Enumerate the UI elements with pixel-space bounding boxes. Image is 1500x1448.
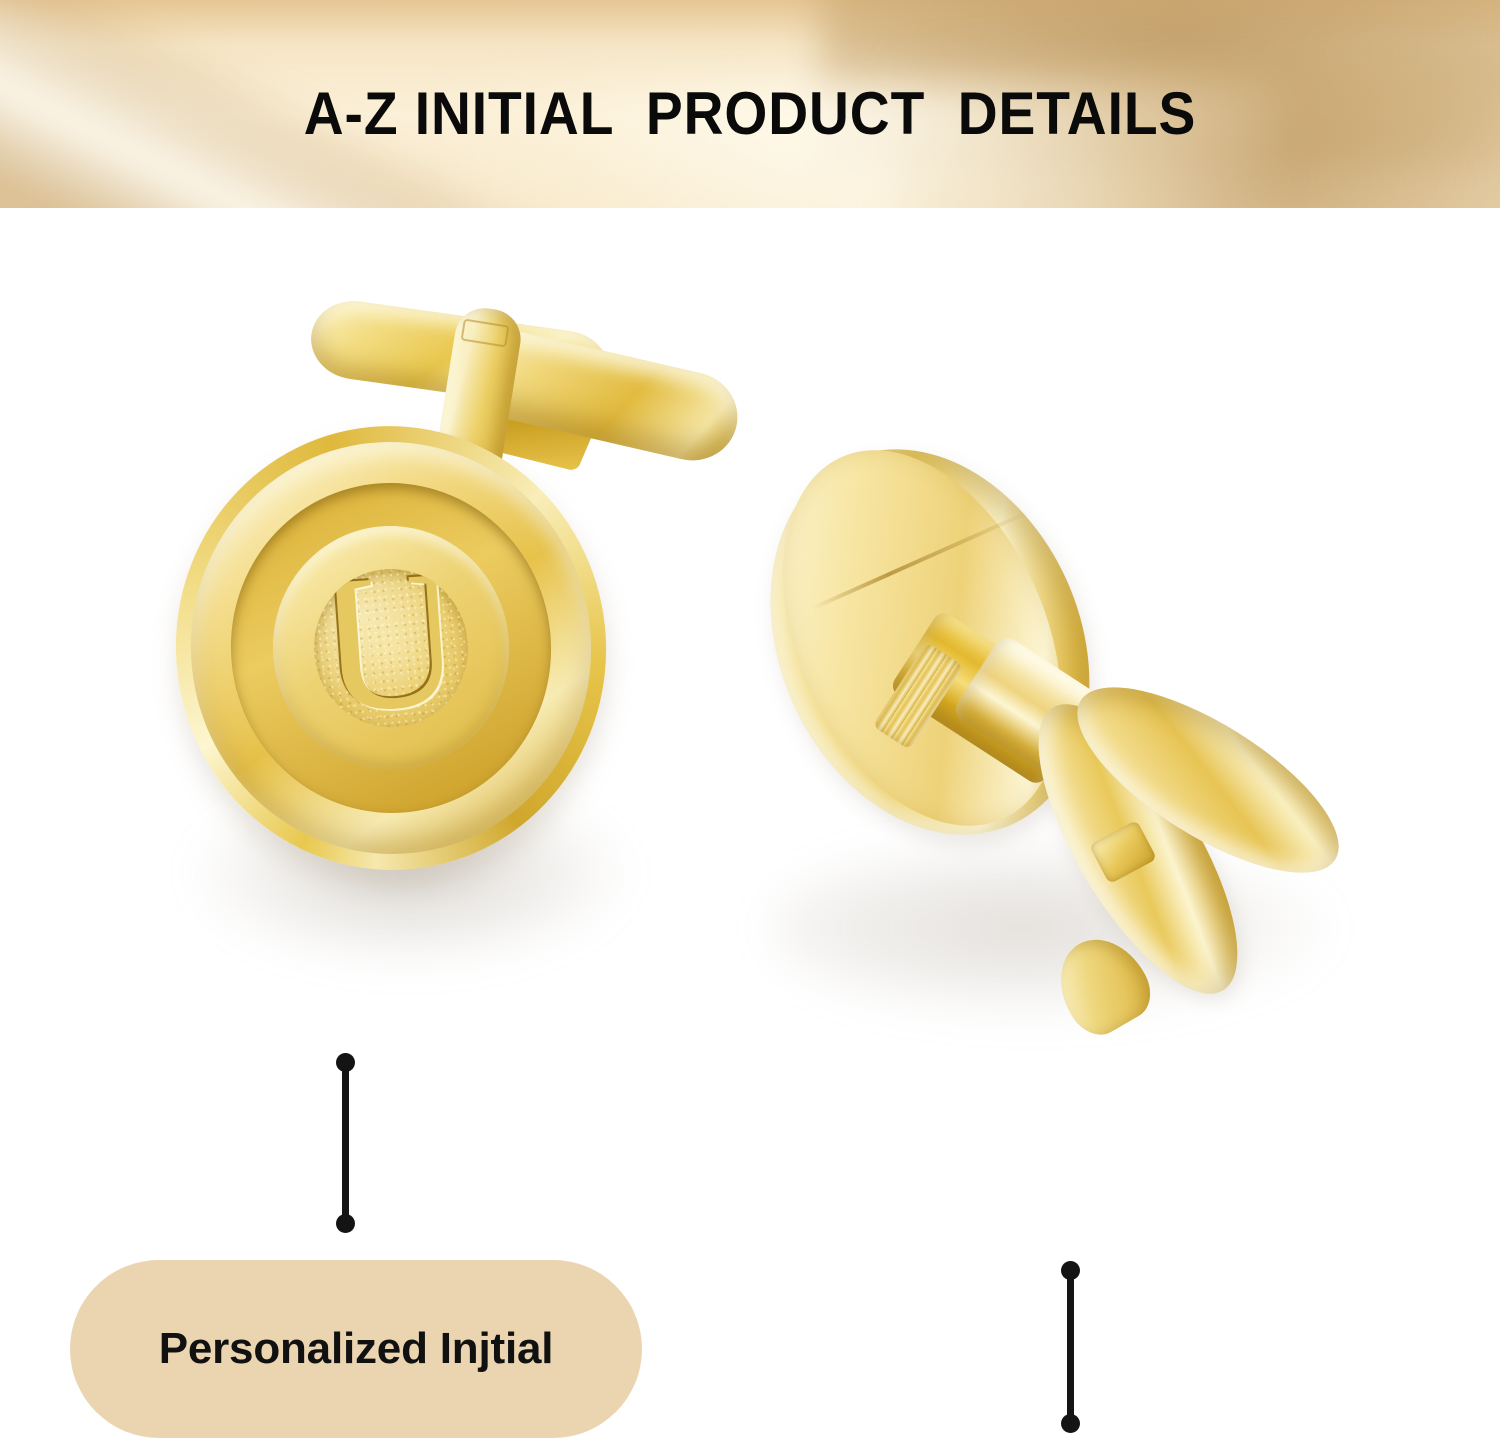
connector-dot-bottom-icon — [336, 1214, 355, 1233]
disc-matte-face: U — [306, 561, 476, 735]
engraved-initial-letter: U — [313, 561, 468, 735]
connector-dot-top-icon — [336, 1053, 355, 1072]
callout-label-personalized-initial: Personalized Injtial — [159, 1324, 554, 1374]
cufflink-front-view: U — [150, 298, 790, 958]
callout-pill-personalized-initial: Personalized Injtial — [70, 1260, 642, 1438]
product-infographic: A-Z INITIAL PRODUCT DETAILS U — [0, 0, 1500, 1448]
cufflink-back-shadow — [770, 838, 1330, 1018]
header-banner: A-Z INITIAL PRODUCT DETAILS — [0, 0, 1500, 208]
callout-connector-right — [1067, 1270, 1074, 1424]
disc-inner-ring: U — [260, 514, 521, 782]
connector-dot-top-icon — [1061, 1261, 1080, 1280]
product-stage: U — [0, 208, 1500, 1448]
page-title: A-Z INITIAL PRODUCT DETAILS — [60, 0, 1440, 208]
callout-connector-left — [342, 1062, 349, 1224]
connector-dot-bottom-icon — [1061, 1414, 1080, 1433]
cufflink-back-view — [760, 438, 1440, 1068]
disc-recess-step: U — [215, 467, 568, 829]
